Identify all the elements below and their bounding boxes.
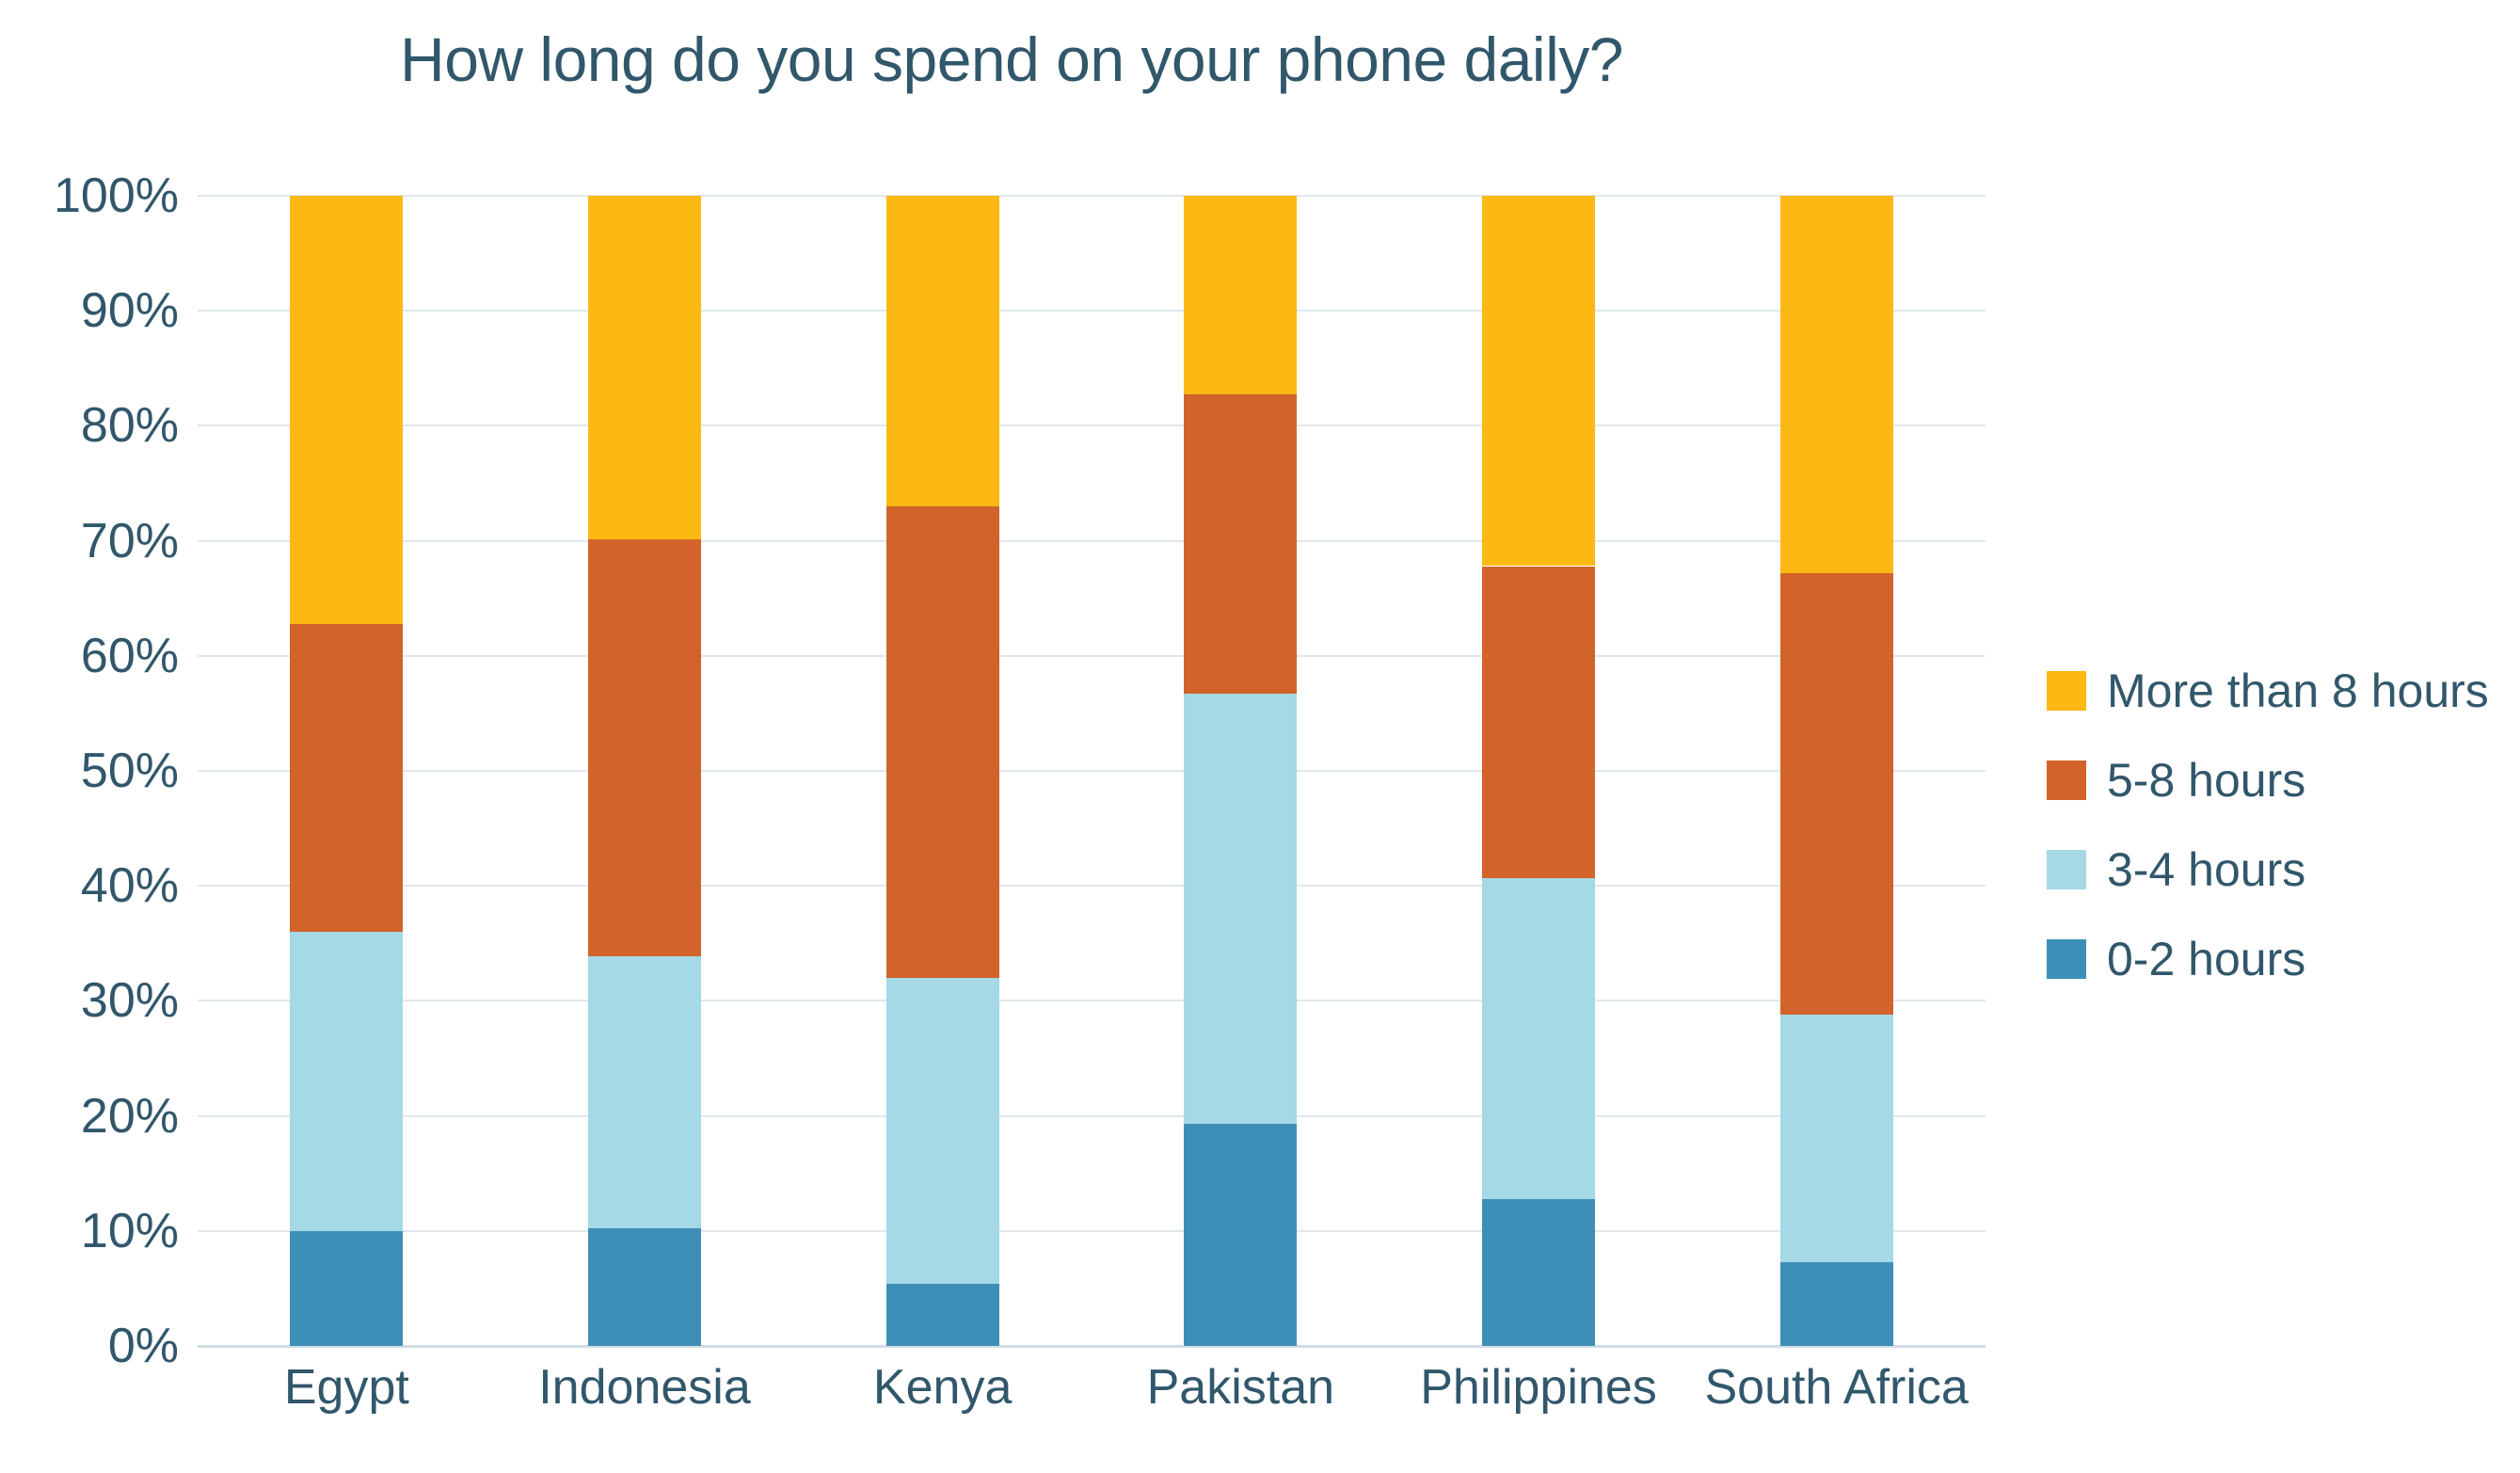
x-axis: EgyptIndonesiaKenyaPakistanPhilippinesSo… xyxy=(198,1363,1986,1448)
legend-item[interactable]: 0-2 hours xyxy=(2047,914,2517,1003)
bar-segment[interactable] xyxy=(1780,1015,1893,1262)
y-tick-label: 10% xyxy=(81,1207,179,1256)
bar-stack xyxy=(1780,196,1893,1346)
bar-stack xyxy=(290,196,403,1346)
bar-segment[interactable] xyxy=(1482,567,1595,878)
bar-group-kenya[interactable] xyxy=(886,196,999,1346)
x-tick-label-indonesia: Indonesia xyxy=(538,1363,751,1412)
y-tick-label: 0% xyxy=(108,1321,179,1370)
legend-label: More than 8 hours xyxy=(2107,667,2489,714)
bar-segment[interactable] xyxy=(588,196,701,539)
bar-group-pakistan[interactable] xyxy=(1184,196,1297,1346)
bar-segment[interactable] xyxy=(1482,196,1595,566)
bar-segment[interactable] xyxy=(1184,196,1297,394)
chart-title: How long do you spend on your phone dail… xyxy=(0,28,2023,90)
y-tick-label: 20% xyxy=(81,1092,179,1141)
y-tick-label: 80% xyxy=(81,401,179,450)
bar-stack xyxy=(1184,196,1297,1346)
bar-segment[interactable] xyxy=(1780,196,1893,573)
y-tick-label: 30% xyxy=(81,976,179,1025)
bar-segment[interactable] xyxy=(1482,1199,1595,1346)
bar-segment[interactable] xyxy=(1780,1262,1893,1346)
legend-label: 3-4 hours xyxy=(2107,846,2305,893)
y-axis: 0%10%20%30%40%50%60%70%80%90%100% xyxy=(0,196,179,1346)
bar-segment[interactable] xyxy=(290,624,403,932)
bar-segment[interactable] xyxy=(290,932,403,1231)
bar-segment[interactable] xyxy=(1184,1124,1297,1346)
bar-segment[interactable] xyxy=(1184,694,1297,1124)
bar-segment[interactable] xyxy=(1482,878,1595,1199)
legend-item[interactable]: More than 8 hours xyxy=(2047,646,2517,735)
legend-label: 5-8 hours xyxy=(2107,757,2305,804)
legend-swatch-icon xyxy=(2047,671,2086,711)
legend-label: 0-2 hours xyxy=(2107,936,2305,983)
legend-item[interactable]: 5-8 hours xyxy=(2047,735,2517,825)
chart-legend: More than 8 hours5-8 hours3-4 hours0-2 h… xyxy=(2047,646,2517,1003)
y-tick-label: 90% xyxy=(81,286,179,335)
bar-segment[interactable] xyxy=(290,196,403,624)
bar-segment[interactable] xyxy=(1780,573,1893,1015)
bar-group-indonesia[interactable] xyxy=(588,196,701,1346)
bars-layer xyxy=(198,196,1986,1346)
x-tick-label-pakistan: Pakistan xyxy=(1147,1363,1334,1412)
bar-group-south-africa[interactable] xyxy=(1780,196,1893,1346)
y-tick-label: 100% xyxy=(54,171,179,220)
bar-stack xyxy=(886,196,999,1346)
bar-segment[interactable] xyxy=(588,1228,701,1346)
x-tick-label-philippines: Philippines xyxy=(1420,1363,1657,1412)
bar-stack xyxy=(588,196,701,1346)
legend-swatch-icon xyxy=(2047,761,2086,800)
bar-stack xyxy=(1482,196,1595,1346)
x-tick-label-kenya: Kenya xyxy=(873,1363,1012,1412)
legend-swatch-icon xyxy=(2047,850,2086,889)
bar-segment[interactable] xyxy=(886,506,999,978)
legend-swatch-icon xyxy=(2047,939,2086,979)
y-tick-label: 70% xyxy=(81,517,179,566)
y-tick-label: 40% xyxy=(81,861,179,910)
legend-item[interactable]: 3-4 hours xyxy=(2047,825,2517,914)
bar-segment[interactable] xyxy=(886,196,999,506)
y-tick-label: 50% xyxy=(81,746,179,795)
x-tick-label-egypt: Egypt xyxy=(284,1363,409,1412)
x-tick-label-south-africa: South Africa xyxy=(1704,1363,1968,1412)
bar-segment[interactable] xyxy=(886,1284,999,1346)
bar-group-philippines[interactable] xyxy=(1482,196,1595,1346)
bar-segment[interactable] xyxy=(588,539,701,955)
bar-segment[interactable] xyxy=(290,1231,403,1346)
bar-segment[interactable] xyxy=(886,978,999,1284)
bar-segment[interactable] xyxy=(588,956,701,1229)
bar-segment[interactable] xyxy=(1184,394,1297,694)
y-tick-label: 60% xyxy=(81,632,179,680)
chart-container: How long do you spend on your phone dail… xyxy=(0,0,2520,1473)
bar-group-egypt[interactable] xyxy=(290,196,403,1346)
